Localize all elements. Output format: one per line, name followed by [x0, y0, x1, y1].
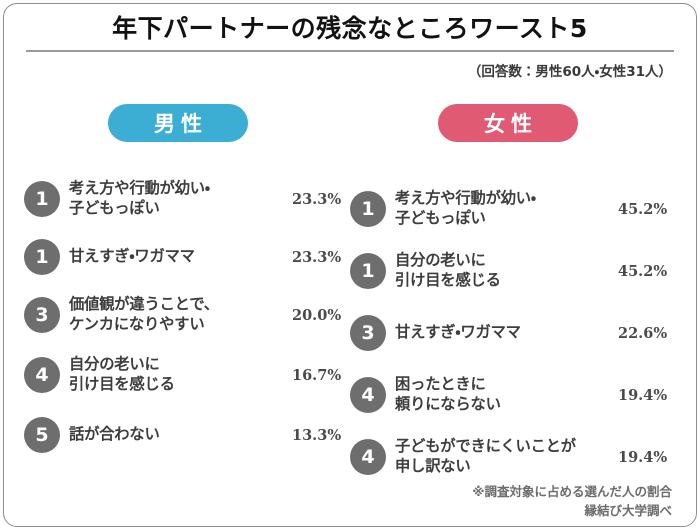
gender-badge-male: 男性	[108, 104, 248, 142]
answer-label: 話が合わない	[60, 425, 292, 445]
answer-label-line: 引け目を感じる	[69, 375, 292, 395]
rank-badge: 4	[350, 439, 386, 475]
answer-label: 甘えすぎ・ワガママ	[60, 247, 292, 267]
page-title: 年下パートナーの残念なところワースト5	[0, 9, 700, 45]
ranking-row: 4自分の老いに引け目を感じる16.7%	[24, 350, 354, 400]
answer-label-line: 考え方や行動が幼い・	[69, 179, 292, 199]
answer-label-line: 甘えすぎ・ワガママ	[69, 247, 292, 267]
answer-label-line: ケンカになりやすい	[69, 315, 292, 335]
ranking-row: 4子どもができにくいことが申し訳ない19.4%	[350, 432, 680, 482]
infographic-root: 年下パートナーの残念なところワースト5 （回答数：男性60人・女性31人） 男性…	[0, 0, 700, 530]
rank-badge: 4	[24, 357, 60, 393]
respondents-count: （回答数：男性60人・女性31人）	[468, 60, 672, 80]
rank-badge: 4	[350, 377, 386, 413]
percentage-value: 19.4%	[618, 387, 680, 404]
answer-label: 甘えすぎ・ワガママ	[386, 323, 618, 343]
answer-label-line: 考え方や行動が幼い・	[395, 189, 618, 209]
ranking-row: 5話が合わない13.3%	[24, 414, 354, 456]
rank-badge: 1	[24, 239, 60, 275]
source-credit: 縁結び大学調べ	[472, 501, 672, 520]
answer-label: 考え方や行動が幼い・子どもっぽい	[60, 179, 292, 219]
footer-notes: ※調査対象に占める選んだ人の割合 縁結び大学調べ	[472, 482, 672, 521]
answer-label-line: 引け目を感じる	[395, 271, 618, 291]
answer-label: 子どもができにくいことが申し訳ない	[386, 437, 618, 477]
rank-badge: 5	[24, 417, 60, 453]
rank-badge: 1	[24, 181, 60, 217]
answer-label-line: 価値観が違うことで、	[69, 295, 292, 315]
percentage-value: 20.0%	[292, 307, 354, 324]
percentage-value: 23.3%	[292, 249, 354, 266]
ranking-row: 1甘えすぎ・ワガママ23.3%	[24, 236, 354, 278]
answer-label-line: 自分の老いに	[395, 251, 618, 271]
rank-badge: 1	[350, 191, 386, 227]
answer-label-line: 自分の老いに	[69, 355, 292, 375]
gender-badge-female: 女性	[438, 104, 578, 142]
ranking-row: 3甘えすぎ・ワガママ22.6%	[350, 312, 680, 354]
rank-badge: 3	[24, 297, 60, 333]
title-divider	[26, 50, 674, 52]
answer-label: 自分の老いに引け目を感じる	[386, 251, 618, 291]
ranking-row: 3価値観が違うことで、ケンカになりやすい20.0%	[24, 290, 354, 340]
rank-badge: 1	[350, 253, 386, 289]
percentage-value: 13.3%	[292, 427, 354, 444]
percentage-value: 22.6%	[618, 325, 680, 342]
percentage-value: 45.2%	[618, 201, 680, 218]
answer-label-line: 困ったときに	[395, 375, 618, 395]
ranking-row: 1考え方や行動が幼い・子どもっぽい23.3%	[24, 174, 354, 224]
answer-label: 価値観が違うことで、ケンカになりやすい	[60, 295, 292, 335]
percentage-value: 16.7%	[292, 367, 354, 384]
answer-label-line: 子どもっぽい	[69, 199, 292, 219]
rank-badge: 3	[350, 315, 386, 351]
footnote-text: ※調査対象に占める選んだ人の割合	[472, 482, 672, 501]
percentage-value: 45.2%	[618, 263, 680, 280]
answer-label: 困ったときに頼りにならない	[386, 375, 618, 415]
answer-label-line: 頼りにならない	[395, 395, 618, 415]
percentage-value: 23.3%	[292, 191, 354, 208]
answer-label-line: 申し訳ない	[395, 457, 618, 477]
answer-label-line: 話が合わない	[69, 425, 292, 445]
ranking-row: 1考え方や行動が幼い・子どもっぽい45.2%	[350, 184, 680, 234]
percentage-value: 19.4%	[618, 449, 680, 466]
answer-label: 自分の老いに引け目を感じる	[60, 355, 292, 395]
ranking-row: 1自分の老いに引け目を感じる45.2%	[350, 246, 680, 296]
answer-label-line: 甘えすぎ・ワガママ	[395, 323, 618, 343]
ranking-row: 4困ったときに頼りにならない19.4%	[350, 370, 680, 420]
answer-label: 考え方や行動が幼い・子どもっぽい	[386, 189, 618, 229]
answer-label-line: 子どもっぽい	[395, 209, 618, 229]
answer-label-line: 子どもができにくいことが	[395, 437, 618, 457]
